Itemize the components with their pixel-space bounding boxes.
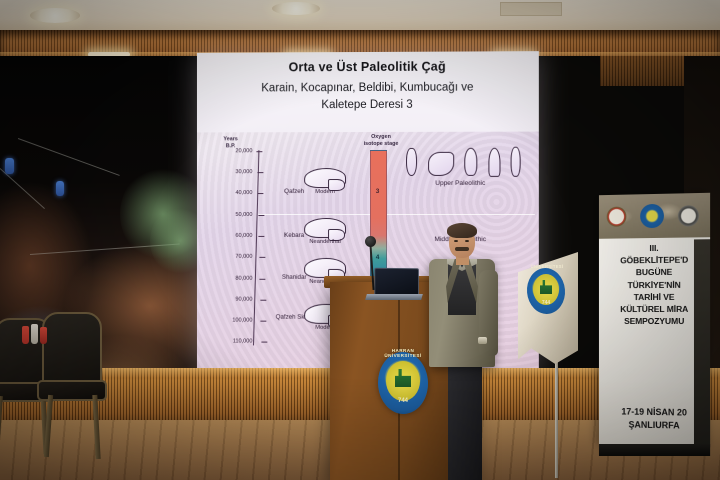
slide-title-area: Orta ve Üst Paleolitik Çağ Karain, Kocap…: [197, 51, 539, 132]
banner-date-block: 17-19 NİSAN 20 ŞANLIURFA: [599, 405, 710, 432]
banner-line: BUGÜNE: [599, 266, 710, 279]
y-tick-label: 80,000: [203, 276, 253, 282]
banner-line: TARİHİ VE: [599, 291, 710, 304]
banner-base: [599, 444, 710, 456]
speaker-mustache: [455, 247, 469, 251]
stone-tool-icon: [511, 147, 521, 177]
y-tick-mark: [261, 342, 267, 343]
y-tick-mark: [259, 257, 265, 258]
y-tick-mark: [257, 193, 263, 194]
stone-tool-icon: [428, 152, 454, 176]
y-tick-mark: [257, 172, 263, 173]
bottle: [31, 324, 38, 344]
ceiling-downlight-icon: [272, 2, 320, 15]
climber-figure: [5, 158, 14, 174]
banner-line: KÜLTÜREL MİRA: [599, 303, 710, 315]
y-tick-mark: [258, 236, 264, 237]
stone-tool-icon: [406, 148, 417, 176]
y-tick-mark: [259, 279, 265, 280]
isotope-stage-number: 3: [370, 188, 385, 195]
hominin-label: Modern: [301, 189, 349, 195]
climber-figure: [56, 181, 64, 196]
y-axis-title-line-1: Years: [223, 136, 237, 142]
y-tick-mark: [260, 321, 266, 322]
skull-illustration: Neanderthal: [304, 218, 346, 240]
y-tick-label: 60,000: [203, 233, 253, 239]
isotope-title-line-1: Oxygen: [371, 134, 391, 140]
ceiling-vent: [500, 2, 562, 16]
rope-line: [18, 138, 120, 176]
y-axis-line: [253, 150, 260, 345]
chair-back: [42, 312, 102, 390]
y-tick-label: 20,000: [203, 148, 253, 154]
banner-logo-icon: [678, 205, 699, 227]
stone-tool-icon: [464, 148, 477, 176]
banner-text: III. GÖBEKLİTEPE'D BUGÜNE TÜRKİYE'NİN TA…: [599, 241, 710, 327]
ceiling: [0, 0, 720, 34]
bottle: [22, 326, 29, 344]
flag-emblem-text: ÜNİVERSİTESİ: [522, 264, 572, 269]
banner-line: GÖBEKLİTEPE'D: [599, 254, 710, 267]
banner-photo: [599, 193, 710, 239]
y-tick-mark: [260, 300, 266, 301]
banner-logo-icon: [640, 204, 664, 228]
upper-paleolithic-caption: Upper Paleolithic: [396, 180, 525, 187]
speaker-hair: [447, 223, 477, 238]
banner-logo-icon: [607, 207, 627, 227]
y-tick-label: 110,000: [203, 338, 253, 344]
podium-emblem-text: HARRAN ÜNİVERSİTESİ: [374, 348, 432, 358]
slide-subtitle-line-2: Kaletepe Deresi 3: [321, 99, 412, 111]
skull-illustration: Modern: [304, 168, 346, 190]
banner-line: SEMPOZYUMU: [599, 315, 710, 327]
y-tick-label: 90,000: [203, 297, 253, 303]
isotope-axis-title: Oxygen isotope stage: [352, 134, 410, 148]
y-tick-mark: [258, 215, 264, 216]
stone-tool-icon: [488, 148, 500, 177]
conference-photo: Orta ve Üst Paleolitik Çağ Karain, Kocap…: [0, 0, 720, 480]
speaker-legs: [448, 360, 482, 480]
isotope-stage-number: 4: [370, 254, 385, 261]
speaker-eye-right: [465, 240, 469, 242]
podium-emblem-number: 744: [378, 398, 428, 404]
banner-line: TÜRKİYE'NİN: [599, 278, 710, 291]
y-tick-label: 40,000: [203, 190, 253, 196]
y-tick-label: 50,000: [203, 212, 253, 218]
wristwatch-icon: [478, 337, 487, 344]
bottle: [40, 327, 47, 344]
rope-line: [0, 168, 45, 209]
horizontal-divider: [258, 214, 534, 215]
slide-subtitle-line-1: Karain, Kocapınar, Beldibi, Kumbucağı ve: [261, 82, 473, 95]
flag-emblem-number: 744: [527, 300, 565, 306]
ceiling-downlight-icon: [30, 8, 80, 23]
isotope-title-line-2: isotope stage: [364, 141, 399, 147]
speaker-eye-left: [454, 240, 458, 242]
slide-subtitle: Karain, Kocapınar, Beldibi, Kumbucağı ve…: [211, 79, 525, 113]
laptop-base[interactable]: [365, 294, 423, 300]
y-tick-label: 30,000: [203, 169, 253, 175]
symposium-banner: III. GÖBEKLİTEPE'D BUGÜNE TÜRKİYE'NİN TA…: [599, 193, 710, 447]
y-tick-label: 70,000: [203, 254, 253, 260]
y-tick-mark: [256, 151, 262, 152]
hominin-label: Neanderthal: [301, 239, 349, 245]
banner-city: ŞANLIURFA: [599, 418, 710, 433]
y-tick-label: 100,000: [203, 317, 253, 323]
microphone-icon: [365, 236, 376, 247]
slide-title: Orta ve Üst Paleolitik Çağ: [197, 59, 539, 75]
